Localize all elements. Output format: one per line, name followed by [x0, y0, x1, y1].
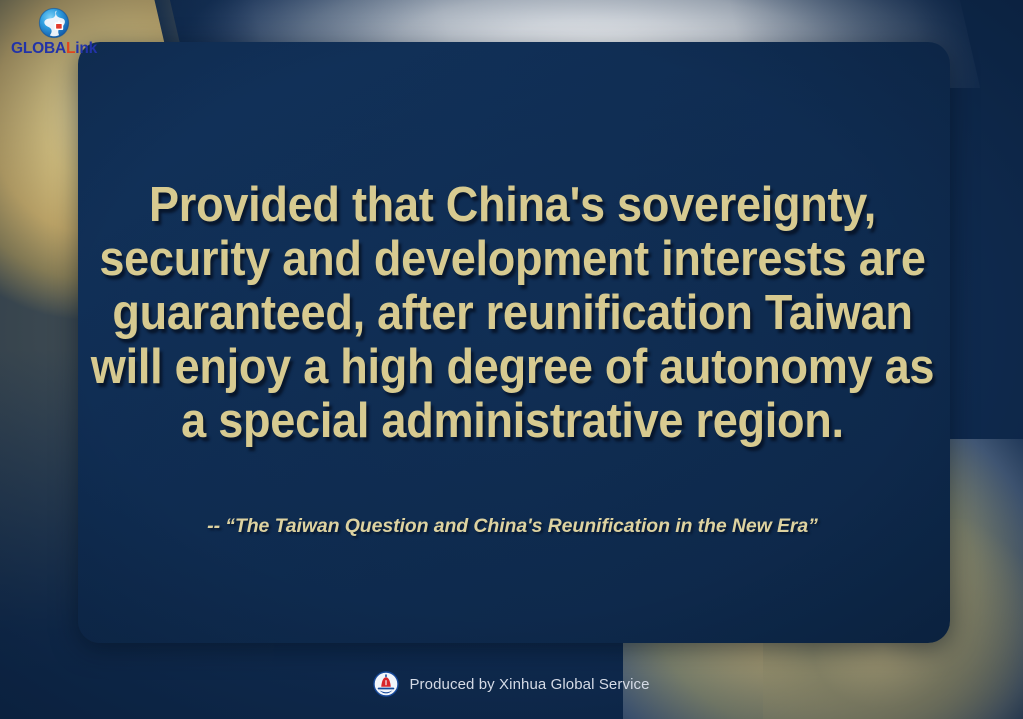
xinhua-logo-icon	[373, 671, 399, 697]
wordmark-l: L	[66, 40, 75, 57]
quote-text: Provided that China's sovereignty, secur…	[87, 178, 938, 448]
globalink-logo[interactable]: GLOBALink	[8, 4, 100, 57]
globalink-wordmark: GLOBALink	[8, 41, 100, 57]
wordmark-ink: ink	[75, 40, 97, 57]
footer-credit-text: Produced by Xinhua Global Service	[409, 676, 649, 693]
quote-attribution: -- “The Taiwan Question and China's Reun…	[50, 515, 975, 538]
globe-icon	[37, 6, 71, 40]
slide-canvas: GLOBALink Provided that China's sovereig…	[0, 0, 1023, 719]
wordmark-globa: GLOBA	[11, 40, 66, 57]
footer-credit: Produced by Xinhua Global Service	[0, 671, 1023, 697]
